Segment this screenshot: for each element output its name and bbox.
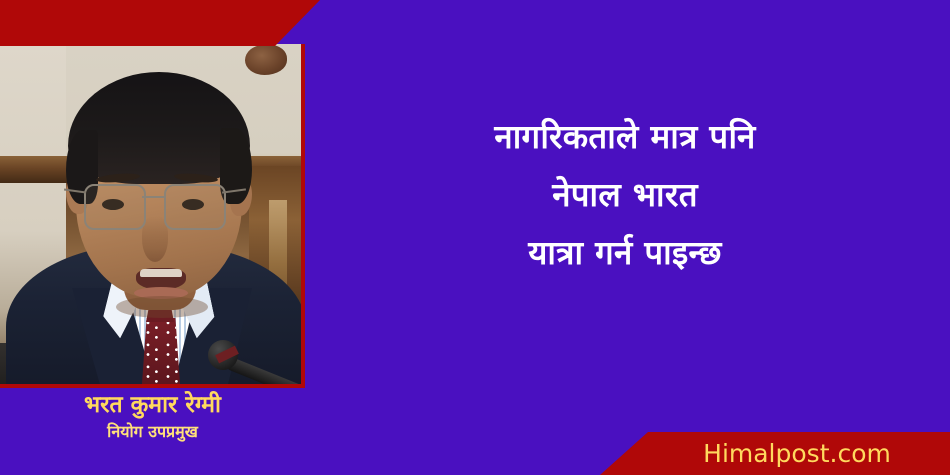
eyeglasses-lens-right (164, 184, 226, 230)
eyeglasses-lens-left (84, 184, 146, 230)
subject-tie (142, 318, 180, 384)
quote-line-3: यात्रा गर्न पाइन्छ (330, 224, 920, 282)
eyeglasses-bridge (142, 196, 164, 198)
quote-line-2: नेपाल भारत (330, 166, 920, 224)
subject-photo (0, 44, 305, 388)
subject-chin-shadow (116, 296, 208, 318)
interview-ribbon (0, 0, 320, 46)
subject-role: नियोग उपप्रमुख (0, 420, 305, 444)
brand-name: Himalpost.com (600, 432, 950, 475)
photo-background-object (245, 45, 287, 75)
subject-name: भरत कुमार रेग्मी (0, 390, 305, 420)
interview-quote-card: अन्तर्वार्ता (0, 0, 950, 475)
subject-teeth (140, 269, 182, 277)
quote-block: नागरिकताले मात्र पनि नेपाल भारत यात्रा ग… (330, 108, 920, 282)
subject-caption: भरत कुमार रेग्मी नियोग उपप्रमुख (0, 390, 305, 444)
quote-line-1: नागरिकताले मात्र पनि (330, 108, 920, 166)
